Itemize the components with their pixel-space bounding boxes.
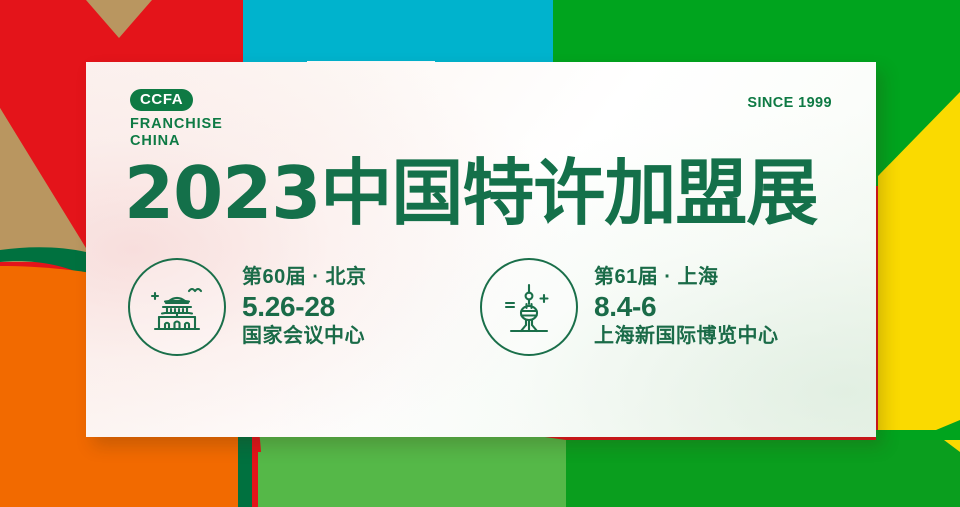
- bg-lightgreen-rect: [258, 452, 566, 507]
- event-shanghai-dates: 8.4-6: [594, 290, 779, 324]
- oriental-pearl-tower-icon: [480, 258, 578, 356]
- page-title: 2023中国特许加盟展: [124, 157, 838, 229]
- tiananmen-gate-icon: [128, 258, 226, 356]
- bg-green-bottom2: [566, 440, 960, 507]
- event-beijing-edition: 第60届 · 北京: [242, 265, 367, 290]
- event-shanghai-venue: 上海新国际博览中心: [594, 324, 779, 349]
- promotional-poster: CCFA FRANCHISE CHINA SINCE 1999 2023中国特许…: [0, 0, 960, 507]
- event-beijing-venue: 国家会议中心: [242, 324, 367, 349]
- brand-line-china: CHINA: [130, 133, 223, 150]
- event-shanghai-text: 第61届 · 上海 8.4-6 上海新国际博览中心: [594, 265, 779, 349]
- events-row: 第60届 · 北京 5.26-28 国家会议中心: [128, 258, 852, 356]
- brand-line-franchise: FRANCHISE: [130, 116, 223, 133]
- event-shanghai-edition: 第61届 · 上海: [594, 265, 779, 290]
- event-beijing-dates: 5.26-28: [242, 290, 367, 324]
- poster-card: CCFA FRANCHISE CHINA SINCE 1999 2023中国特许…: [86, 62, 876, 437]
- ccfa-pill-label: CCFA: [130, 89, 193, 111]
- event-shanghai: 第61届 · 上海 8.4-6 上海新国际博览中心: [480, 258, 852, 356]
- ccfa-logo: CCFA FRANCHISE CHINA: [130, 89, 223, 150]
- event-beijing: 第60届 · 北京 5.26-28 国家会议中心: [128, 258, 480, 356]
- since-label: SINCE 1999: [747, 95, 832, 111]
- event-beijing-text: 第60届 · 北京 5.26-28 国家会议中心: [242, 265, 367, 349]
